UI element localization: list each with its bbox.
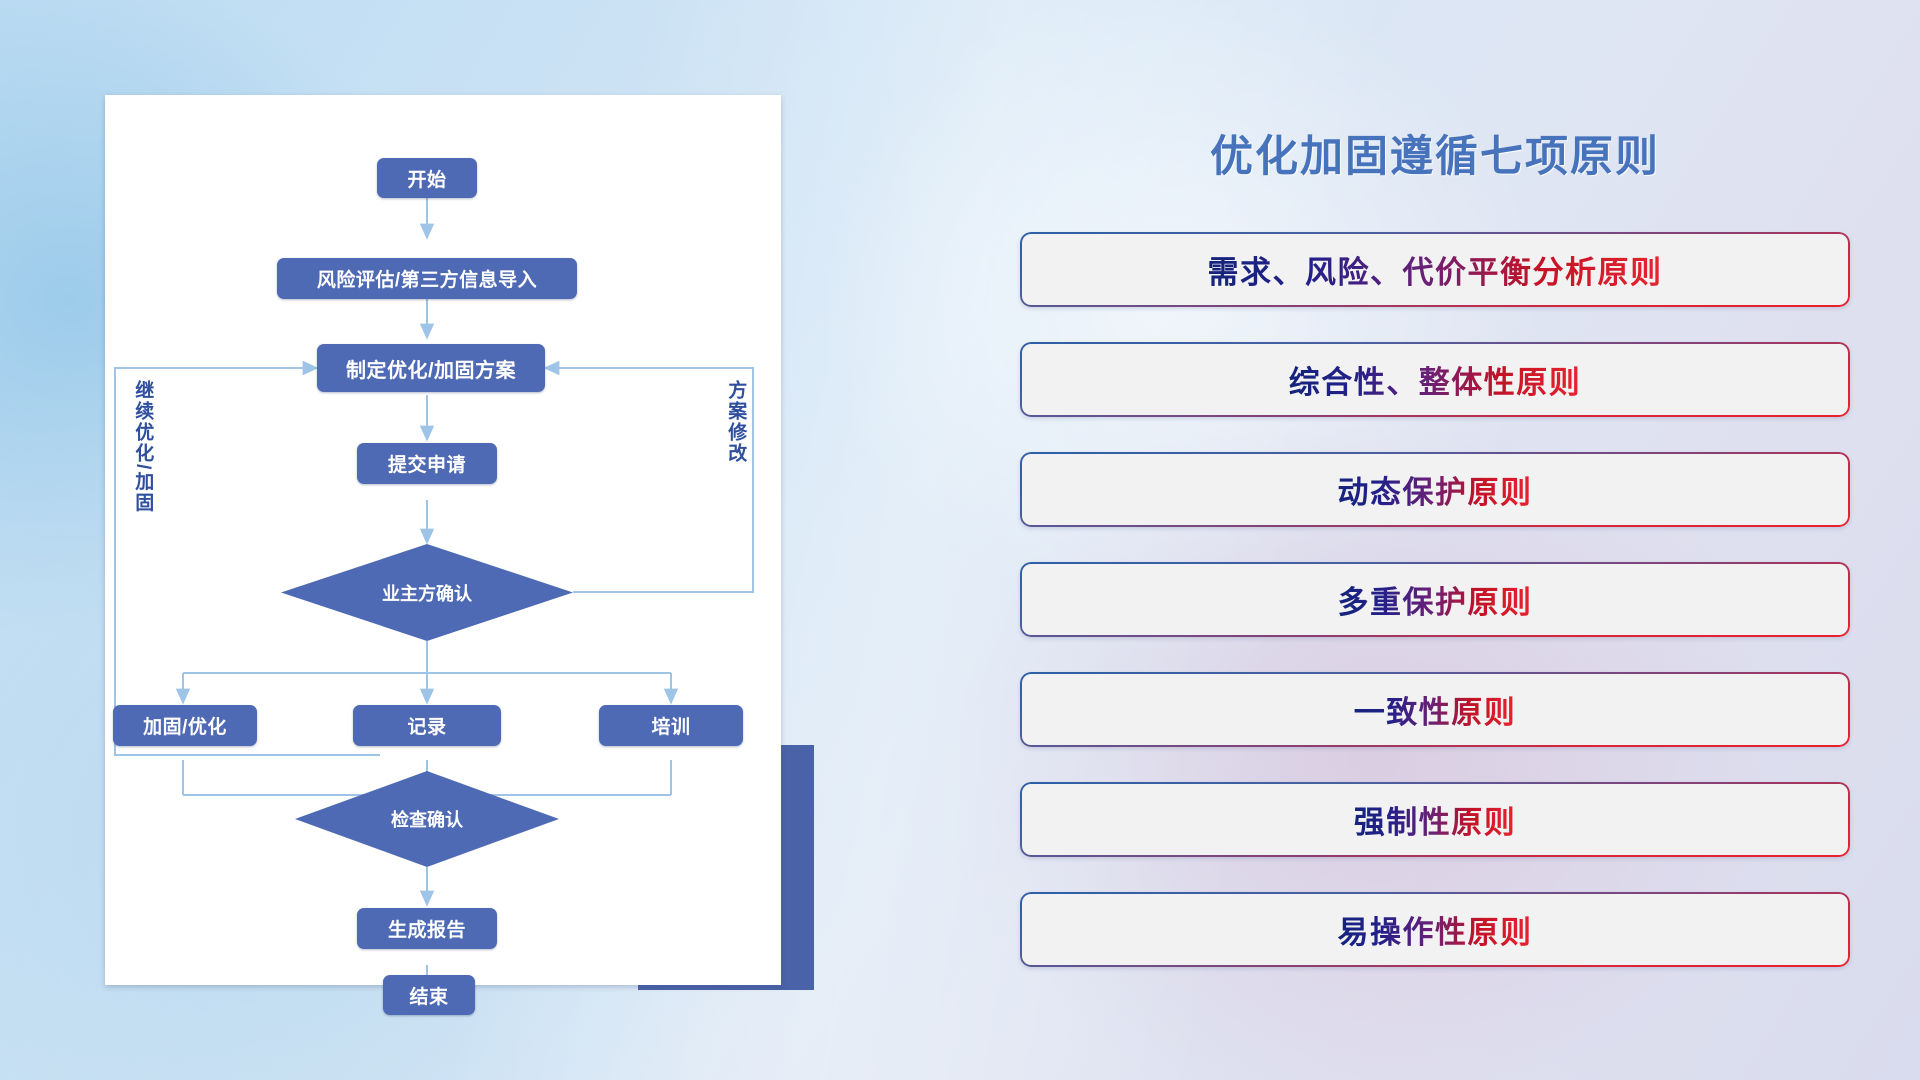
flow-node-reinforce[interactable]: 加固/优化 — [113, 705, 257, 746]
principle-card-6[interactable]: 强制性原则 — [1020, 782, 1850, 857]
flow-node-label: 业主方确认 — [382, 580, 472, 606]
flow-node-report[interactable]: 生成报告 — [357, 908, 497, 949]
flow-node-record[interactable]: 记录 — [353, 705, 501, 746]
flow-node-start[interactable]: 开始 — [377, 158, 477, 198]
flow-node-label: 风险评估/第三方信息导入 — [317, 265, 537, 292]
principles-panel: 优化加固遵循七项原则 需求、风险、代价平衡分析原则 综合性、整体性原则 动态保护… — [1020, 95, 1850, 1005]
principle-label: 一致性原则 — [1354, 687, 1517, 732]
flow-node-label: 检查确认 — [391, 806, 463, 832]
flow-edge-label-left-loop: 继续优化/加固 — [132, 380, 153, 513]
flow-node-label: 提交申请 — [388, 450, 466, 477]
flow-node-label: 加固/优化 — [143, 712, 227, 739]
principle-label: 多重保护原则 — [1338, 577, 1533, 622]
flow-node-label: 制定优化/加固方案 — [346, 354, 516, 383]
principle-card-5[interactable]: 一致性原则 — [1020, 672, 1850, 747]
principle-label: 强制性原则 — [1354, 797, 1517, 842]
principles-panel-title: 优化加固遵循七项原则 — [1020, 122, 1850, 184]
principle-card-7[interactable]: 易操作性原则 — [1020, 892, 1850, 967]
flowchart-card: 开始 风险评估/第三方信息导入 制定优化/加固方案 提交申请 业主方确认 加固/… — [105, 95, 781, 985]
principle-card-1[interactable]: 需求、风险、代价平衡分析原则 — [1020, 232, 1850, 307]
flow-node-label: 记录 — [407, 712, 446, 739]
flow-edge-label-right-loop: 方案修改 — [725, 380, 746, 464]
flow-node-label: 培训 — [651, 712, 690, 739]
flow-node-label: 开始 — [407, 165, 446, 192]
flow-node-label: 结束 — [409, 982, 448, 1009]
flow-node-end[interactable]: 结束 — [383, 975, 475, 1015]
principle-label: 综合性、整体性原则 — [1289, 357, 1582, 402]
flow-node-submit[interactable]: 提交申请 — [357, 443, 497, 484]
principle-label: 动态保护原则 — [1338, 467, 1533, 512]
principle-card-4[interactable]: 多重保护原则 — [1020, 562, 1850, 637]
principles-list: 需求、风险、代价平衡分析原则 综合性、整体性原则 动态保护原则 多重保护原则 一… — [1020, 232, 1850, 1002]
principle-card-2[interactable]: 综合性、整体性原则 — [1020, 342, 1850, 417]
flow-node-assess[interactable]: 风险评估/第三方信息导入 — [277, 258, 577, 299]
flow-node-train[interactable]: 培训 — [599, 705, 743, 746]
flow-node-label: 生成报告 — [388, 915, 466, 942]
flow-node-plan[interactable]: 制定优化/加固方案 — [317, 344, 545, 392]
principle-card-3[interactable]: 动态保护原则 — [1020, 452, 1850, 527]
principle-label: 需求、风险、代价平衡分析原则 — [1208, 247, 1663, 292]
principle-label: 易操作性原则 — [1338, 907, 1533, 952]
